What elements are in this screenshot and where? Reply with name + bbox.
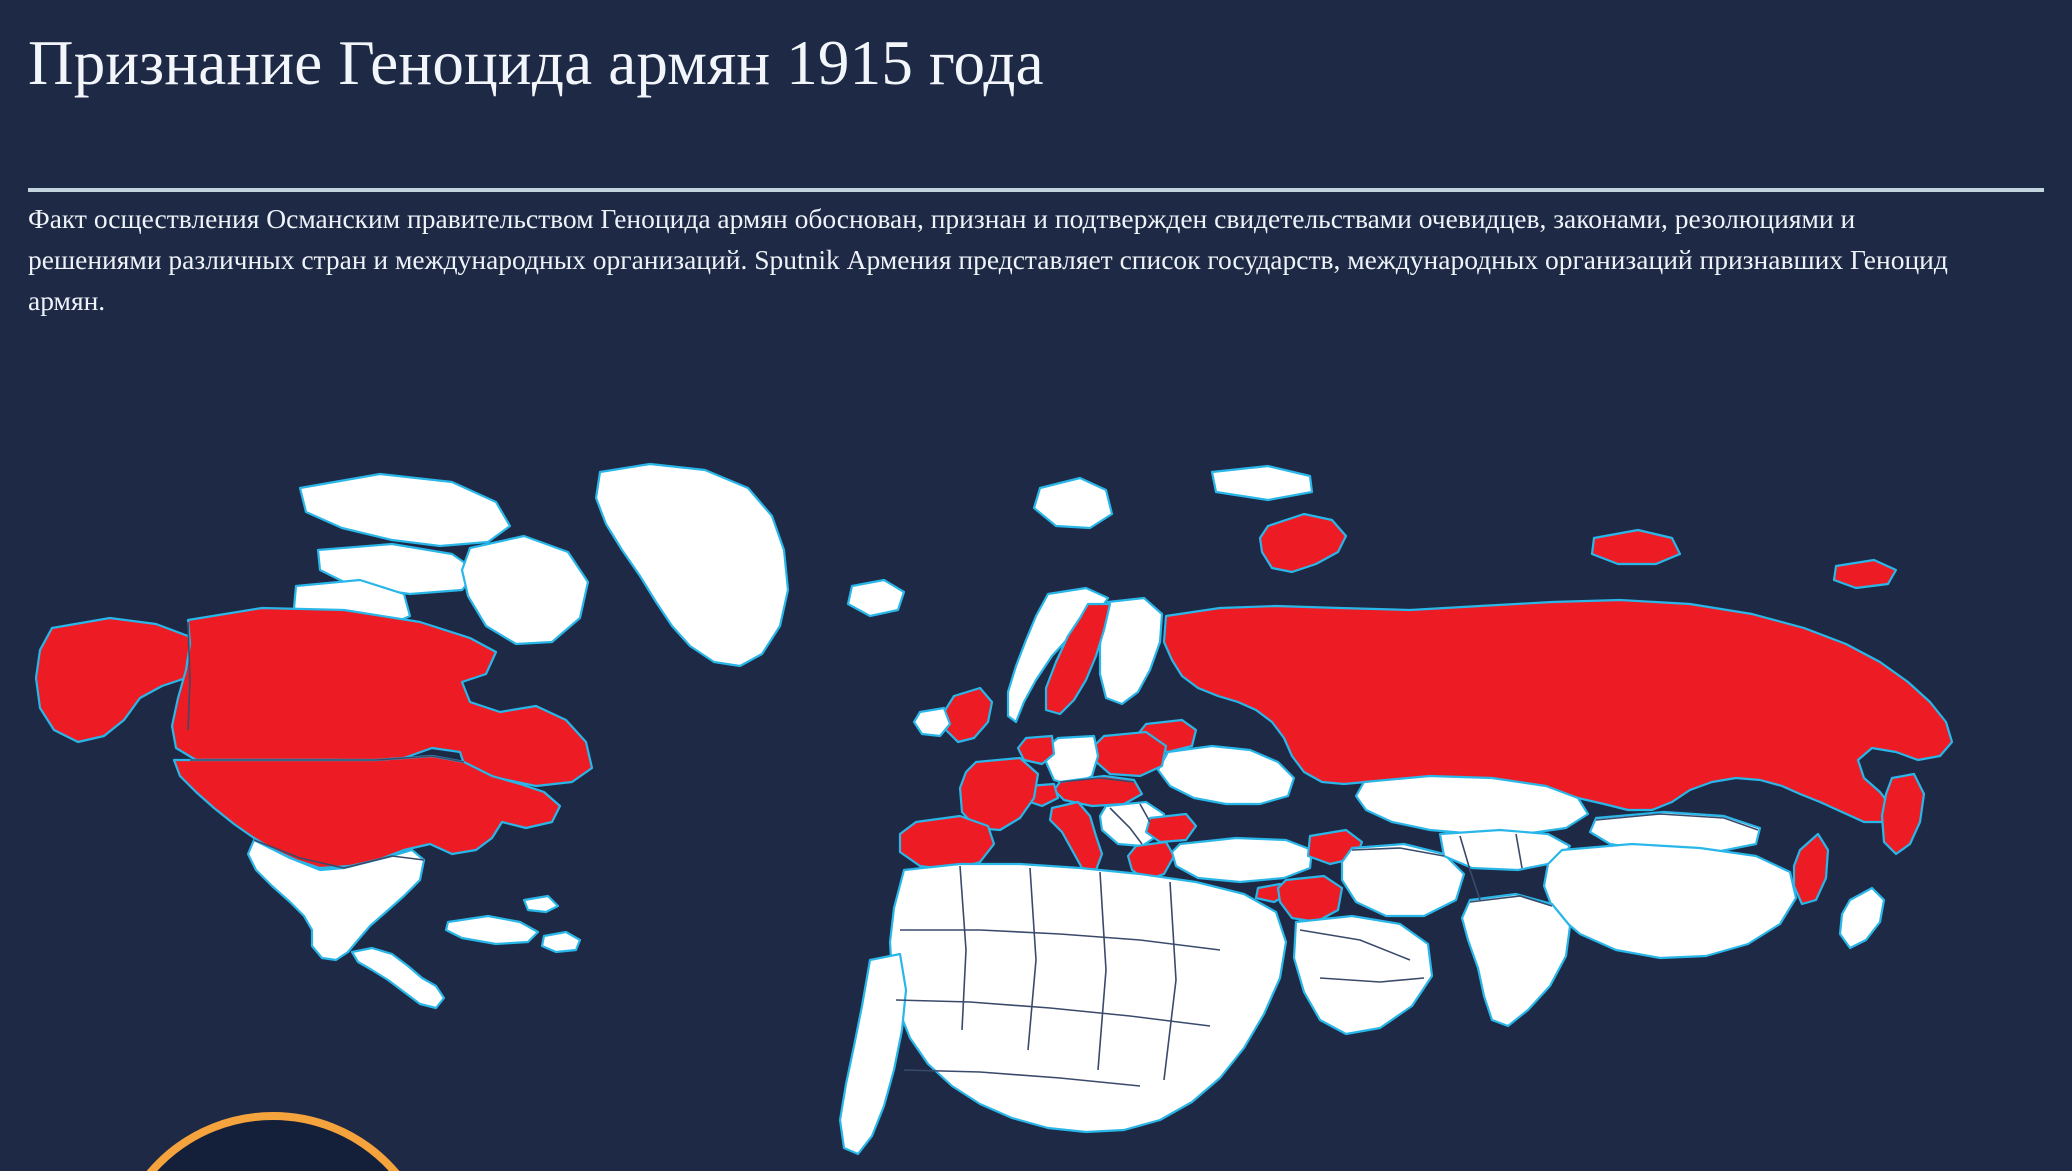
country-ireland — [914, 708, 950, 736]
world-map — [0, 430, 2072, 1171]
header-divider — [28, 188, 2044, 192]
page-title: Признание Геноцида армян 1915 года — [28, 26, 1044, 100]
country-bulgaria — [1146, 814, 1196, 842]
intro-paragraph: Факт осществления Османским правительств… — [28, 198, 1988, 321]
infographic-page: Признание Геноцида армян 1915 года Факт … — [0, 0, 2072, 1171]
country-turkey — [1172, 838, 1312, 882]
world-map-svg — [0, 430, 2072, 1171]
country-spain-portugal — [900, 816, 994, 870]
country-poland — [1094, 732, 1166, 776]
